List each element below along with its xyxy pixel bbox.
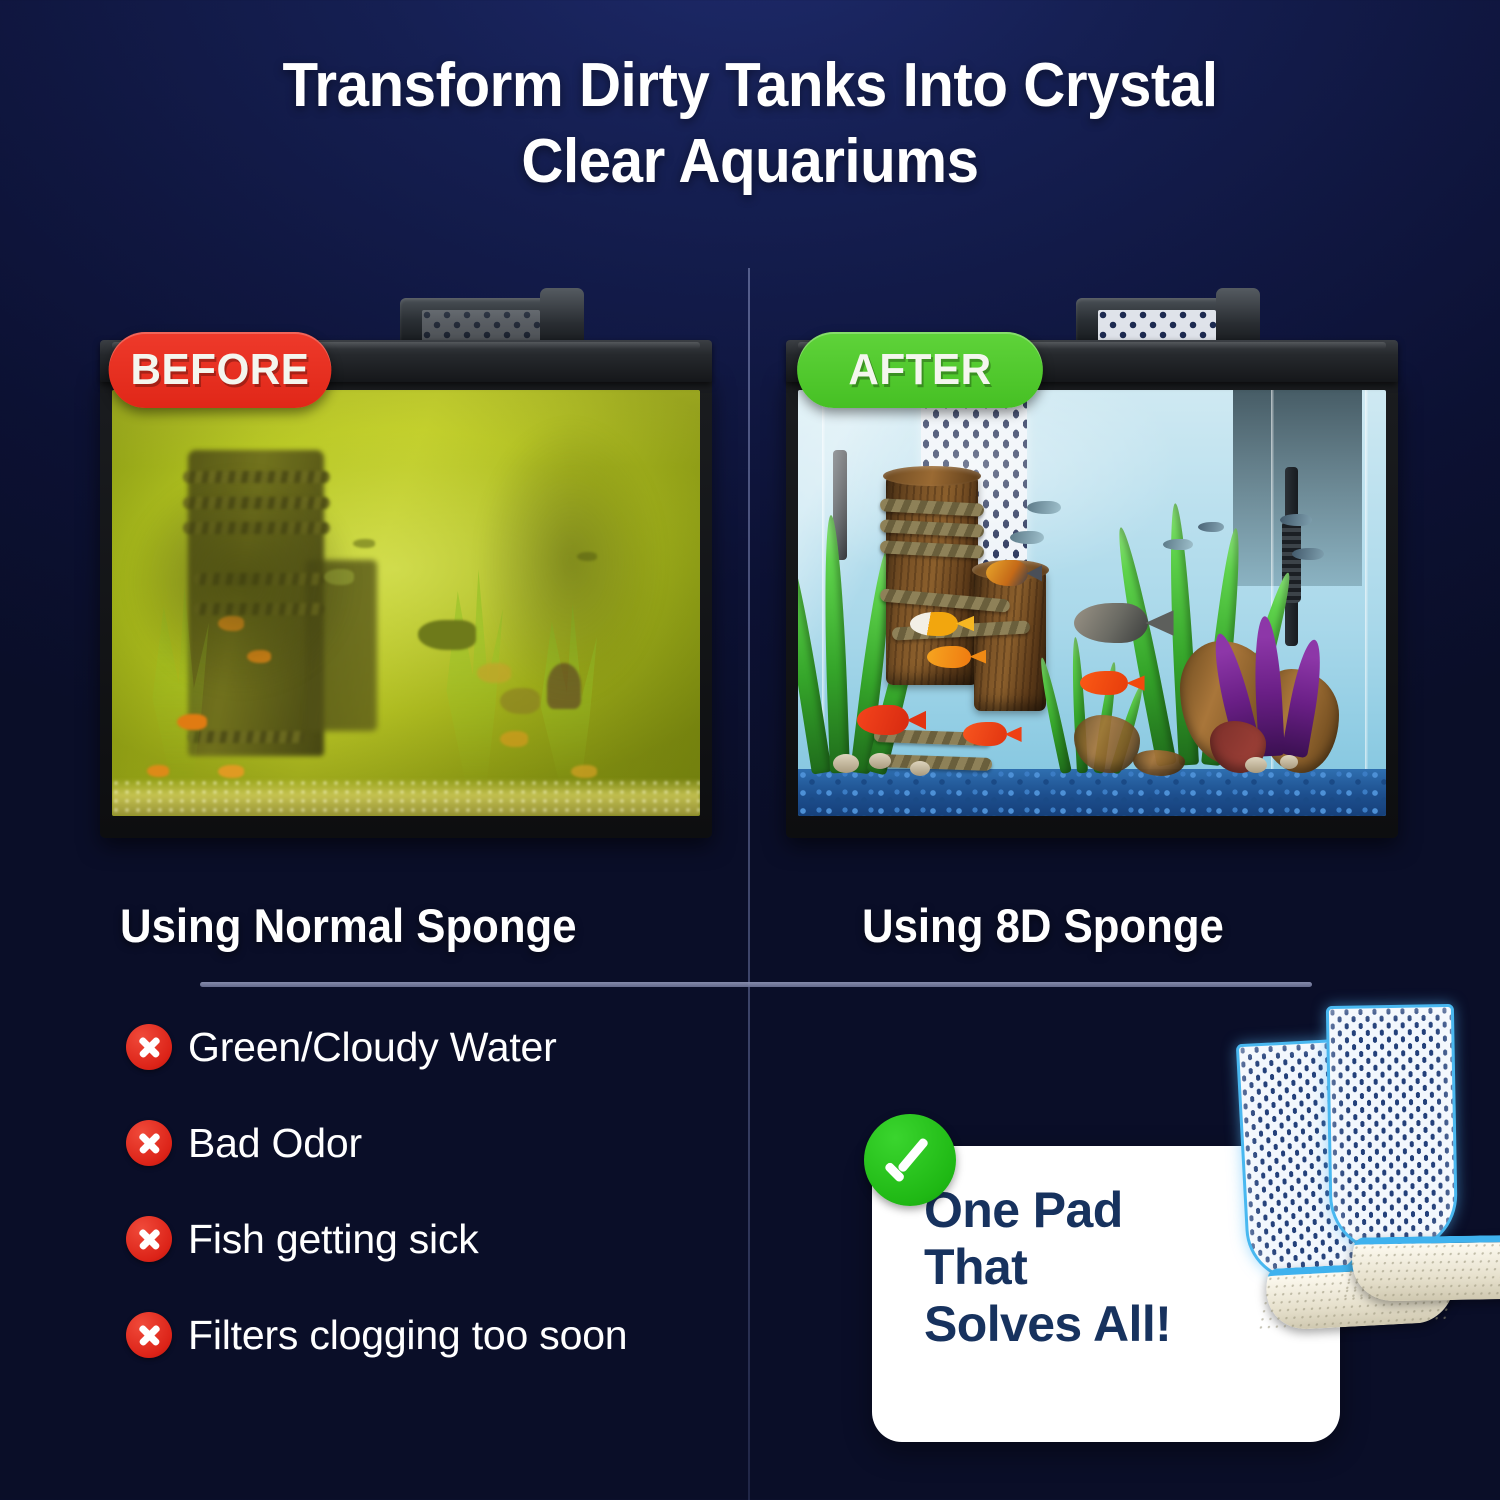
before-badge: BEFORE <box>109 332 332 408</box>
red-x-icon <box>126 1120 172 1166</box>
list-item-label: Bad Odor <box>188 1116 362 1170</box>
list-item: Filters clogging too soon <box>126 1308 726 1362</box>
list-item: Green/Cloudy Water <box>126 1020 726 1074</box>
red-x-icon <box>126 1024 172 1070</box>
list-item-label: Green/Cloudy Water <box>188 1020 557 1074</box>
red-x-icon <box>126 1216 172 1262</box>
after-badge: AFTER <box>797 332 1043 408</box>
left-column-heading: Using Normal Sponge <box>120 898 577 953</box>
list-item-label: Filters clogging too soon <box>188 1308 627 1362</box>
sponge-pad <box>1326 1004 1458 1254</box>
headline-line-2: Clear Aquariums <box>45 124 1455 200</box>
horizontal-divider <box>200 982 1312 987</box>
green-check-icon <box>864 1114 956 1206</box>
right-column-heading: Using 8D Sponge <box>862 898 1224 953</box>
headline-line-1: Transform Dirty Tanks Into Crystal <box>282 51 1217 120</box>
list-item: Fish getting sick <box>126 1212 726 1266</box>
page-title: Transform Dirty Tanks Into Crystal Clear… <box>45 48 1455 199</box>
red-x-icon <box>126 1312 172 1358</box>
cons-list: Green/Cloudy Water Bad Odor Fish getting… <box>126 1020 726 1404</box>
list-item-label: Fish getting sick <box>188 1212 479 1266</box>
list-item: Bad Odor <box>126 1116 726 1170</box>
sponge-pad-product-image <box>1190 995 1500 1350</box>
tank-frame <box>100 376 712 838</box>
vertical-divider <box>748 268 750 1500</box>
tank-frame <box>786 376 1398 838</box>
